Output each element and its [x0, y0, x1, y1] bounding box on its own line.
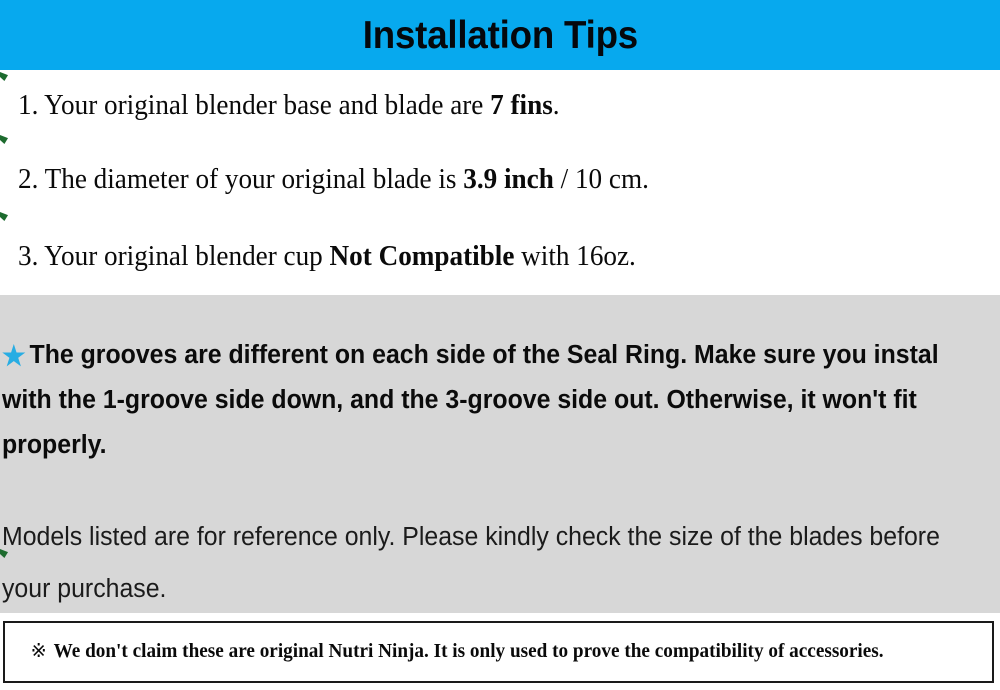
tip-text-after: / 10 cm.	[554, 164, 649, 195]
section-divider	[0, 613, 1000, 621]
tip-text-after: with 16oz.	[514, 241, 635, 272]
notice-section: ★The grooves are different on each side …	[0, 295, 1000, 615]
disclaimer-body: We don't claim these are original Nutri …	[54, 641, 884, 662]
header-banner: Installation Tips	[0, 0, 1000, 70]
disclaimer-text: ※We don't claim these are original Nutri…	[5, 641, 884, 662]
page-title: Installation Tips	[362, 16, 637, 55]
star-icon: ★	[2, 343, 26, 370]
models-reference-note: Models listed are for reference only. Pl…	[2, 511, 958, 615]
tip-text-before: The diameter of your original blade is	[38, 164, 463, 195]
green-arrow-icon	[0, 72, 8, 81]
tip-emphasis: Not Compatible	[330, 241, 515, 272]
green-arrow-icon	[0, 212, 8, 221]
green-arrow-icon	[0, 135, 8, 144]
tips-section: 1. Your original blender base and blade …	[0, 70, 1000, 295]
tip-emphasis: 7 fins	[490, 90, 553, 121]
tip-item: 1. Your original blender base and blade …	[18, 91, 560, 122]
tip-item: 3. Your original blender cup Not Compati…	[18, 242, 636, 273]
tip-item: 2. The diameter of your original blade i…	[18, 165, 649, 196]
tip-text-before: Your original blender base and blade are	[38, 90, 490, 121]
seal-ring-warning-text: The grooves are different on each side o…	[2, 341, 939, 459]
tip-number: 1.	[18, 90, 38, 121]
disclaimer-box: ※We don't claim these are original Nutri…	[3, 621, 994, 683]
tip-text-after: .	[553, 90, 560, 121]
seal-ring-warning: ★The grooves are different on each side …	[2, 333, 973, 468]
tip-emphasis: 3.9 inch	[463, 164, 554, 195]
tip-number: 2.	[18, 164, 38, 195]
installation-tips-page: Installation Tips 1. Your original blend…	[0, 0, 1000, 690]
tip-number: 3.	[18, 241, 38, 272]
tip-text-before: Your original blender cup	[38, 241, 329, 272]
reference-mark-icon: ※	[31, 641, 47, 662]
